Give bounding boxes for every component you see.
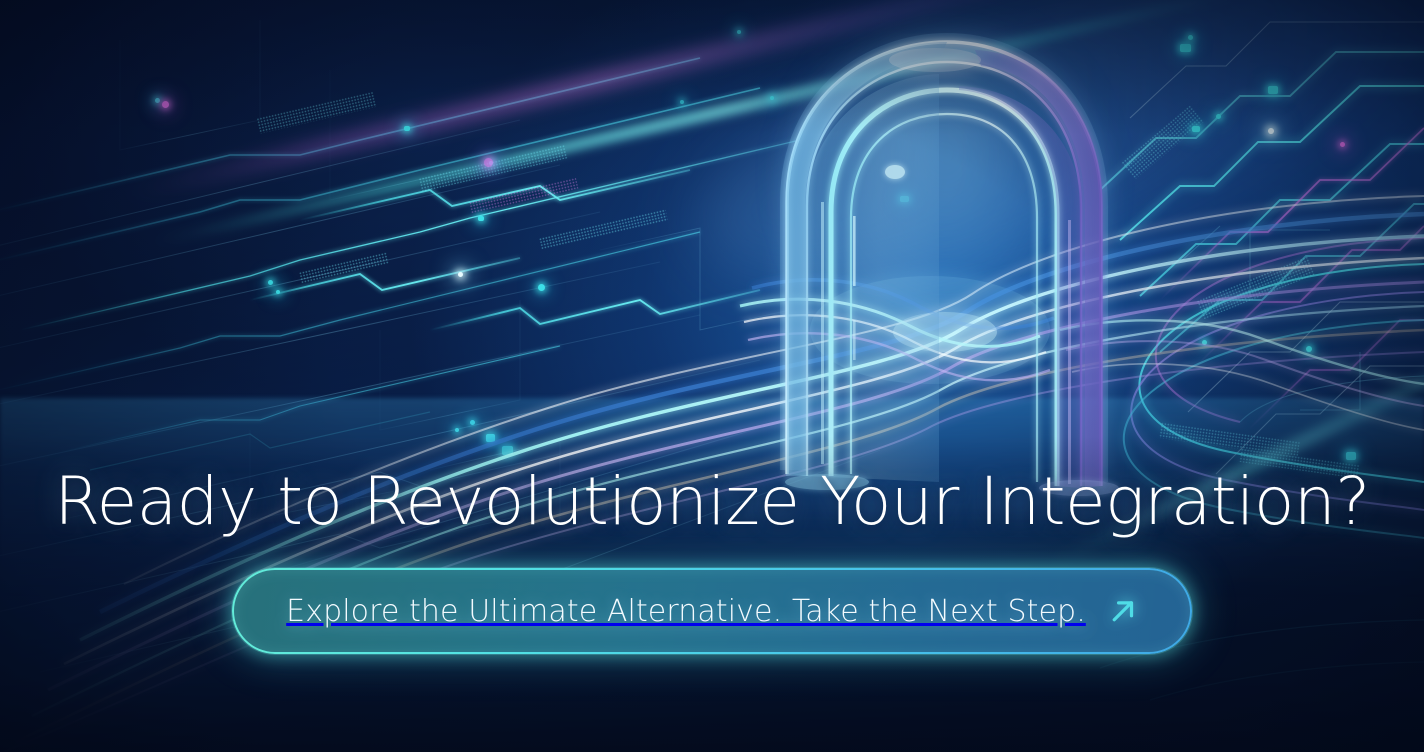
cta-banner: Ready to Revolutionize Your Integration?… [0,0,1424,752]
cta-label: Explore the Ultimate Alternative. Take t… [286,594,1086,629]
arrow-up-right-icon [1108,596,1138,626]
explore-alternative-cta-button[interactable]: Explore the Ultimate Alternative. Take t… [232,568,1192,654]
cta-container: Explore the Ultimate Alternative. Take t… [0,568,1424,654]
page-title: Ready to Revolutionize Your Integration? [0,466,1424,539]
banner-content: Ready to Revolutionize Your Integration?… [0,0,1424,752]
